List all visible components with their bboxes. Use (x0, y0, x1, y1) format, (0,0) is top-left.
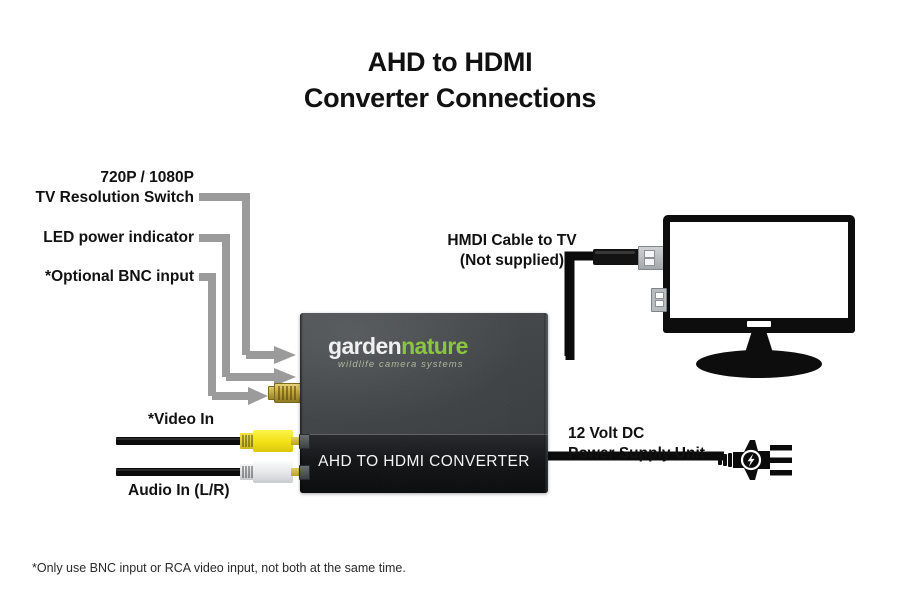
arrowhead-bnc (248, 387, 268, 405)
leader-line-bnc-input (199, 277, 212, 396)
tv-screen (670, 222, 848, 318)
rca-video-body (253, 430, 293, 452)
tv-stand-base (696, 350, 822, 378)
label-hdmi-cable-line1: HMDI Cable to TV (432, 231, 592, 251)
tv-power-button (747, 321, 771, 327)
arrowhead-resolution (274, 346, 296, 364)
device-brand-tagline: wildlife camera systems (338, 359, 468, 370)
rca-audio-body (253, 461, 293, 483)
label-bnc-input: *Optional BNC input (0, 267, 194, 287)
label-video-in: *Video In (148, 410, 214, 430)
label-hdmi-cable-line2: (Not supplied) (432, 251, 592, 271)
label-resolution-switch-line2: TV Resolution Switch (0, 188, 194, 208)
label-resolution-switch: 720P / 1080P TV Resolution Switch (0, 168, 194, 208)
tv-hdmi-port-slot-top (655, 292, 664, 299)
diagram-canvas: AHD to HDMI Converter Connections 720P /… (0, 0, 900, 600)
page-title: AHD to HDMI Converter Connections (0, 44, 900, 116)
label-audio-in: Audio In (L/R) (128, 481, 230, 501)
ahd-to-hdmi-converter: gardennature wildlife camera systems AHD… (300, 313, 548, 493)
hdmi-connector (593, 246, 665, 268)
device-rca-video-port (299, 434, 310, 449)
tv-hdmi-port (651, 288, 667, 312)
device-rca-audio-port (299, 465, 310, 480)
rca-video-wire (116, 437, 244, 445)
hdmi-connector-overmold (593, 249, 641, 265)
hdmi-pin-row-bottom (644, 258, 655, 266)
power-plug-graphic (718, 432, 796, 488)
hdmi-pin-row-top (644, 250, 655, 258)
label-hdmi-cable: HMDI Cable to TV (Not supplied) (432, 231, 592, 271)
device-front-label: AHD TO HDMI CONVERTER (300, 453, 548, 471)
leader-line-resolution-switch (199, 197, 246, 355)
rca-video-ferrule (240, 433, 254, 449)
page-title-line2: Converter Connections (0, 80, 900, 116)
hdmi-cable-elbow (570, 256, 597, 360)
brand-text-garden: garden (328, 333, 401, 359)
label-resolution-switch-line1: 720P / 1080P (0, 168, 194, 188)
tv-hdmi-port-slot-bottom (655, 300, 664, 307)
device-brand-wordmark: gardennature (328, 335, 468, 358)
device-brand-logo: gardennature wildlife camera systems (328, 335, 468, 370)
television (663, 215, 855, 375)
rca-audio-wire (116, 468, 244, 476)
page-title-line1: AHD to HDMI (368, 47, 533, 77)
bnc-barrel (274, 383, 302, 403)
hdmi-cable-path (569, 256, 597, 356)
power-plug-prongs (770, 445, 792, 476)
leader-line-led-indicator (199, 238, 226, 377)
brand-text-nature: nature (401, 333, 468, 359)
label-led-indicator: LED power indicator (0, 228, 194, 248)
rca-cable-video (116, 428, 306, 454)
rca-audio-ferrule (240, 464, 254, 480)
power-plug-strain-relief (718, 453, 732, 467)
footnote: *Only use BNC input or RCA video input, … (32, 561, 406, 575)
power-plug (718, 432, 796, 488)
